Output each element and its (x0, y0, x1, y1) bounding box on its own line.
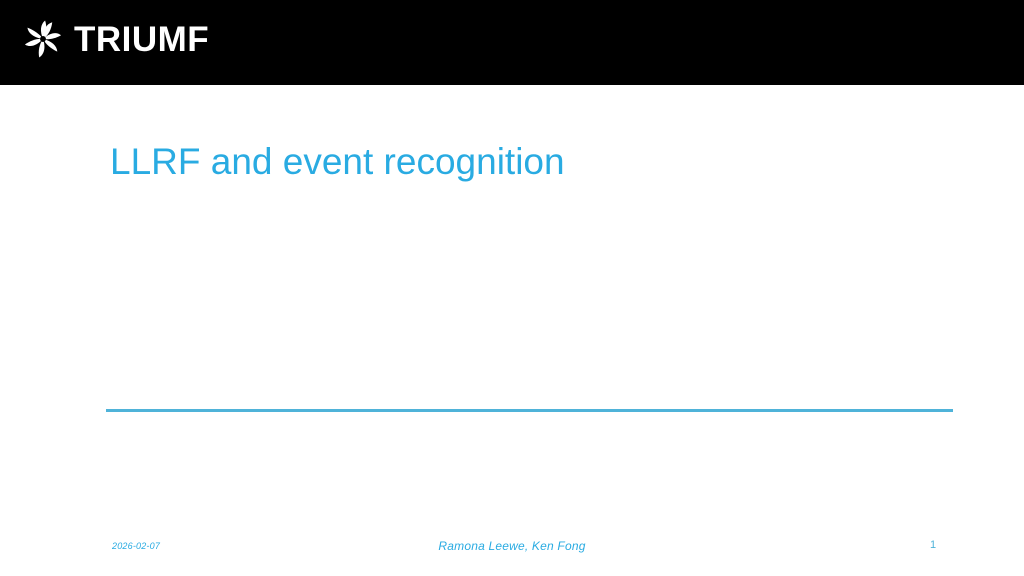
triumf-wordmark: TRIUMF (74, 22, 209, 57)
footer-authors: Ramona Leewe, Ken Fong (0, 539, 1024, 553)
header-band: TRIUMF (0, 0, 1024, 85)
footer-page-number: 1 (930, 539, 960, 551)
triumf-logo: TRIUMF (22, 18, 209, 60)
title-divider-rule (106, 409, 953, 412)
triumf-pinwheel-icon (22, 18, 64, 60)
presentation-slide: TRIUMF LLRF and event recognition 2026-0… (0, 0, 1024, 576)
slide-title: LLRF and event recognition (110, 140, 930, 184)
